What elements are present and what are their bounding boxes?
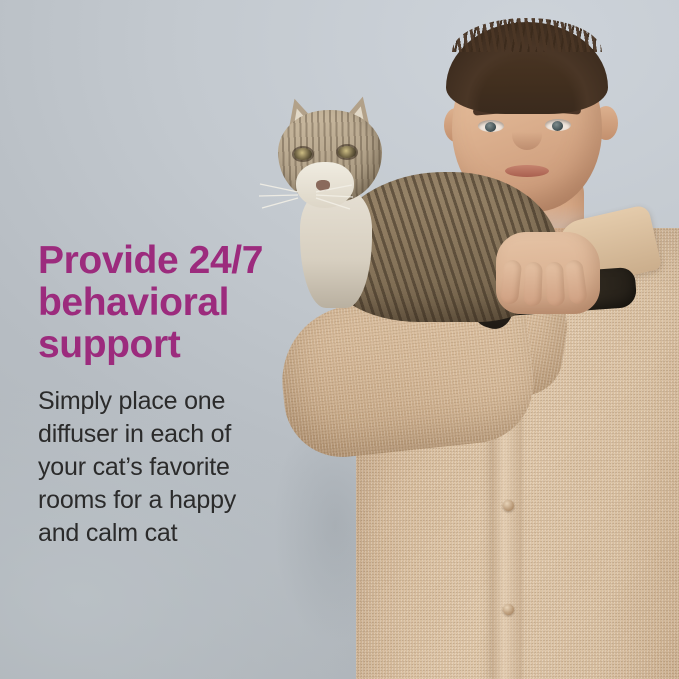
text-block: Provide 24/7 behavioral support Simply p… (38, 240, 338, 550)
cat-eye-left (294, 148, 312, 160)
cat-whiskers (258, 176, 354, 216)
promotional-banner: Provide 24/7 behavioral support Simply p… (0, 0, 679, 679)
headline: Provide 24/7 behavioral support (38, 240, 338, 366)
finger-pinky (564, 259, 588, 305)
cat-head (278, 110, 382, 202)
finger-middle (523, 262, 543, 307)
hair-texture (452, 18, 602, 52)
shirt-button-4 (503, 604, 514, 615)
cat-eye-right (338, 146, 356, 158)
finger-index (500, 259, 523, 305)
subcopy: Simply place one diffuser in each of you… (38, 366, 338, 550)
finger-ring (545, 262, 565, 307)
hand (496, 232, 600, 314)
shirt-button-3 (503, 500, 514, 511)
